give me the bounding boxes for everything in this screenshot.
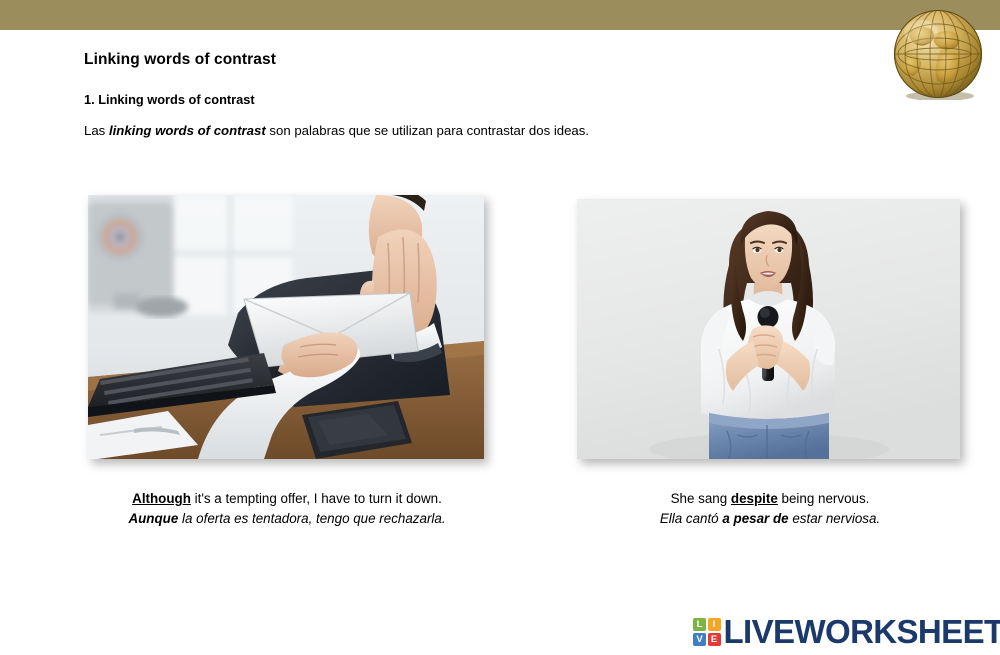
caption-left-keyword-en: Although (132, 491, 191, 506)
logo-tile-i: I (708, 618, 721, 631)
intro-text-emphasis: linking words of contrast (109, 123, 266, 138)
intro-text-after: son palabras que se utilizan para contra… (266, 123, 589, 138)
liveworksheets-wordmark: LIVEWORKSHEETS (724, 615, 1000, 649)
section-heading: 1. Linking words of contrast (84, 92, 255, 107)
caption-right-keyword-en: despite (731, 491, 778, 506)
intro-paragraph: Las linking words of contrast son palabr… (84, 123, 589, 138)
businessman-refusing-envelope-photo (88, 195, 484, 459)
logo-tile-e: E (708, 633, 721, 646)
caption-right-spanish: Ella cantó a pesar de estar nerviosa. (600, 509, 940, 529)
caption-right: She sang despite being nervous. Ella can… (600, 489, 940, 529)
globe-icon (891, 4, 985, 100)
intro-text-before: Las (84, 123, 109, 138)
caption-right-before-en: She sang (671, 491, 731, 506)
logo-tile-v: V (693, 633, 706, 646)
caption-left-rest-en: it's a tempting offer, I have to turn it… (191, 491, 442, 506)
logo-tile-l: L (693, 618, 706, 631)
caption-right-english: She sang despite being nervous. (600, 489, 940, 509)
caption-right-before-es: Ella cantó (660, 511, 723, 526)
caption-left: Although it's a tempting offer, I have t… (72, 489, 502, 529)
liveworksheets-logo[interactable]: L I V E LIVEWORKSHEETS (693, 612, 1000, 652)
woman-holding-microphone-photo (577, 199, 960, 459)
caption-left-keyword-es: Aunque (128, 511, 178, 526)
liveworksheets-logo-tiles: L I V E (693, 618, 721, 646)
top-banner (0, 0, 1000, 30)
caption-left-spanish: Aunque la oferta es tentadora, tengo que… (72, 509, 502, 529)
page-title: Linking words of contrast (84, 51, 276, 69)
caption-right-keyword-es: a pesar de (722, 511, 788, 526)
caption-right-rest-en: being nervous. (778, 491, 870, 506)
caption-left-rest-es: la oferta es tentadora, tengo que rechaz… (178, 511, 445, 526)
caption-right-rest-es: estar nerviosa. (789, 511, 881, 526)
caption-left-english: Although it's a tempting offer, I have t… (72, 489, 502, 509)
